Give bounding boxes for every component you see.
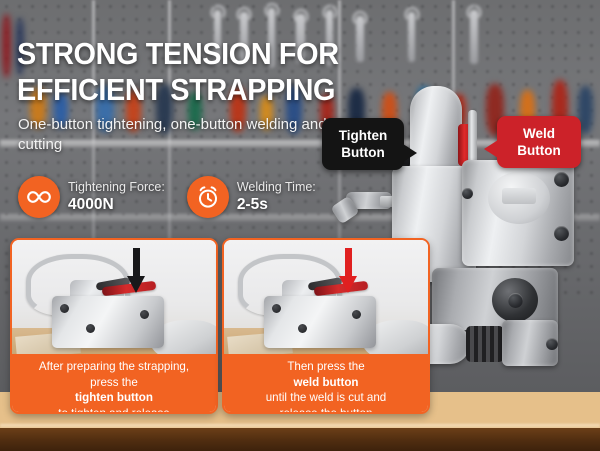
photo-bolt	[298, 324, 307, 333]
photo-bolt	[140, 310, 149, 319]
feature-value: 4000N	[68, 196, 165, 213]
caption-line-1: Then press the weld button	[230, 359, 422, 390]
feature-tightening-force: Tightening Force: 4000N	[18, 176, 165, 218]
wrench-icon	[408, 12, 415, 62]
weld-button-callout: Weld Button	[497, 116, 581, 168]
step-caption-tighten: After preparing the strapping, press the…	[12, 354, 216, 412]
subtitle: One-button tightening, one-button weldin…	[18, 115, 338, 155]
tool-bolt	[554, 172, 569, 187]
photo-bolt	[60, 304, 69, 313]
caption-line-1: After preparing the strapping,	[18, 359, 210, 375]
caption-line-2: until the weld is cut and	[230, 390, 422, 406]
headline-line-2: EFFICIENT STRAPPING	[17, 72, 352, 108]
step-panel-weld: Then press the weld button until the wel…	[222, 238, 430, 414]
photo-bolt	[352, 310, 361, 319]
feature-text: Tightening Force: 4000N	[68, 181, 165, 214]
arrow-head	[127, 276, 145, 293]
infinity-icon	[18, 176, 60, 218]
caption-line-3: to tighten and release	[18, 406, 210, 415]
photo-tool-body	[264, 296, 376, 348]
tool-bolt	[462, 188, 473, 199]
arrow-shaft	[345, 248, 352, 278]
feature-label: Welding Time:	[237, 181, 316, 195]
photo-bolt	[272, 304, 281, 313]
caption-bold: weld button	[293, 376, 358, 389]
feature-badges: Tightening Force: 4000N Welding Time: 2-…	[18, 176, 316, 218]
wrench-icon	[356, 16, 364, 62]
feed-wheel-bolt	[508, 293, 523, 308]
headline: STRONG TENSION FOR EFFICIENT STRAPPING	[17, 36, 352, 108]
feature-label: Tightening Force:	[68, 181, 165, 195]
wrench-icon	[470, 10, 478, 64]
callout-line-2: Button	[334, 144, 392, 161]
feature-welding-time: Welding Time: 2-5s	[187, 176, 316, 218]
tool-bolt	[546, 338, 558, 350]
caption-bold: tighten button	[75, 391, 153, 404]
step-caption-weld: Then press the weld button until the wel…	[224, 354, 428, 412]
step-photo-weld	[224, 240, 428, 358]
caption-text: Then press the	[230, 359, 422, 375]
caption-line-3: release the button	[230, 406, 422, 415]
step-photo-tighten	[12, 240, 216, 358]
arrow-head	[339, 276, 357, 293]
hanging-tool	[2, 14, 11, 78]
callout-line-2: Button	[509, 142, 569, 159]
alarm-clock-icon	[187, 176, 229, 218]
step-panel-tighten: After preparing the strapping, press the…	[10, 238, 218, 414]
feature-value: 2-5s	[237, 196, 316, 213]
headline-line-1: STRONG TENSION FOR	[17, 36, 352, 72]
tool-spring	[466, 326, 504, 362]
photo-bolt	[86, 324, 95, 333]
table-front-edge	[0, 428, 600, 451]
caption-line-2: press the tighten button	[18, 375, 210, 406]
product-banner: STRONG TENSION FOR EFFICIENT STRAPPING O…	[0, 0, 600, 451]
callout-line-1: Weld	[509, 125, 569, 142]
photo-tool-body	[52, 296, 164, 348]
down-arrow-icon	[342, 248, 355, 294]
tool-motor-housing	[410, 86, 462, 172]
arrow-shaft	[133, 248, 140, 278]
nameplate-emboss	[502, 188, 536, 204]
callout-line-1: Tighten	[334, 127, 392, 144]
down-arrow-icon	[130, 248, 143, 294]
tighten-button-callout: Tighten Button	[322, 118, 404, 170]
tool-bolt	[554, 226, 569, 241]
caption-text: press the	[18, 375, 210, 391]
feature-text: Welding Time: 2-5s	[237, 181, 316, 214]
